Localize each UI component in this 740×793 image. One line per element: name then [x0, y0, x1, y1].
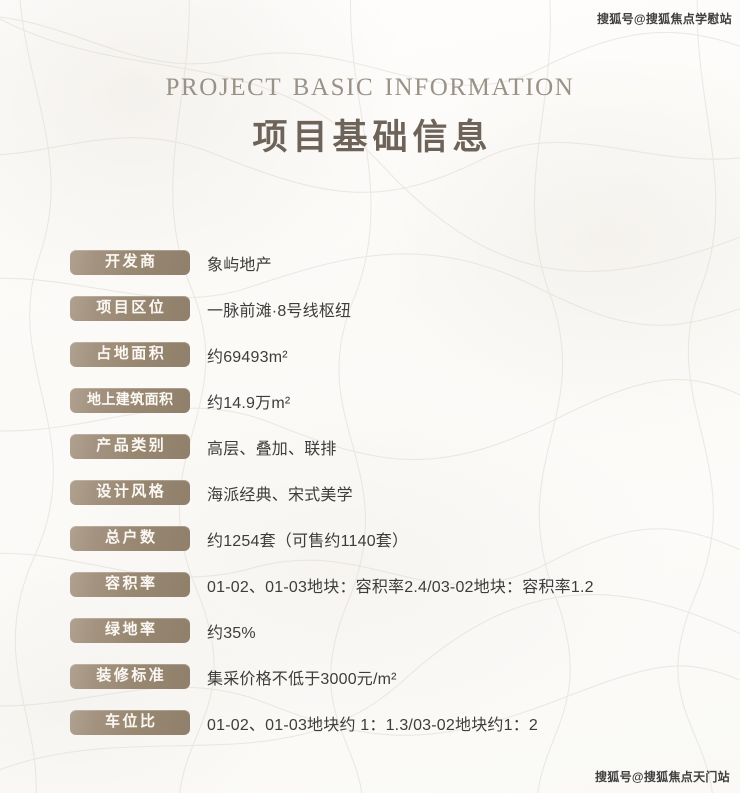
- info-label-text: 项目区位: [94, 301, 167, 316]
- info-label-text: 容积率: [102, 577, 157, 592]
- info-value-text: 集采价格不低于3000元/m²: [207, 661, 397, 692]
- info-value-text: 一脉前滩·8号线枢纽: [207, 293, 351, 324]
- info-value-text: 约69493m²: [207, 339, 288, 370]
- info-label-text: 装修标准: [94, 669, 167, 684]
- info-label-text: 总户数: [102, 531, 157, 546]
- info-label-chip: 项目区位: [70, 296, 190, 321]
- info-label-text: 产品类别: [94, 439, 167, 454]
- info-label-text: 开发商: [102, 255, 157, 270]
- info-value-text: 约14.9万m²: [207, 385, 290, 416]
- info-value-text: 约35%: [207, 615, 256, 646]
- page-header: Project Basic Information 项目基础信息: [0, 66, 740, 155]
- info-row: 开发商 象屿地产: [0, 247, 740, 293]
- info-value-text: 01-02、01-03地块约 1：1.3/03-02地块约1：2: [207, 707, 538, 738]
- info-value-text: 约1254套（可售约1140套）: [207, 523, 408, 554]
- info-label-chip: 总户数: [70, 526, 190, 551]
- info-row: 装修标准 集采价格不低于3000元/m²: [0, 661, 740, 707]
- info-label-chip: 容积率: [70, 572, 190, 597]
- info-row: 地上建筑面积 约14.9万m²: [0, 385, 740, 431]
- info-row: 占地面积 约69493m²: [0, 339, 740, 385]
- info-row: 产品类别 高层、叠加、联排: [0, 431, 740, 477]
- page-title-english: Project Basic Information: [0, 66, 740, 101]
- watermark-bottom: 搜狐号@搜狐焦点天门站: [595, 768, 730, 785]
- info-row: 设计风格 海派经典、宋式美学: [0, 477, 740, 523]
- info-value-text: 海派经典、宋式美学: [207, 477, 353, 508]
- watermark-top: 搜狐号@搜狐焦点学慰站: [597, 10, 732, 27]
- project-info-list: 开发商 象屿地产 项目区位 一脉前滩·8号线枢纽 占地面积 约69493m² 地…: [0, 247, 740, 753]
- info-label-text: 绿地率: [102, 623, 157, 638]
- info-label-chip: 开发商: [70, 250, 190, 275]
- info-value-text: 象屿地产: [207, 247, 272, 278]
- info-row: 容积率 01-02、01-03地块：容积率2.4/03-02地块：容积率1.2: [0, 569, 740, 615]
- info-label-text: 车位比: [102, 715, 157, 730]
- info-label-chip: 装修标准: [70, 664, 190, 689]
- info-label-text: 占地面积: [94, 347, 167, 362]
- info-label-chip: 绿地率: [70, 618, 190, 643]
- page-background: Project Basic Information 项目基础信息 开发商 象屿地…: [0, 0, 740, 793]
- info-label-chip: 地上建筑面积: [70, 388, 190, 413]
- info-label-chip: 车位比: [70, 710, 190, 735]
- info-label-chip: 产品类别: [70, 434, 190, 459]
- info-row: 项目区位 一脉前滩·8号线枢纽: [0, 293, 740, 339]
- info-label-text: 设计风格: [94, 485, 167, 500]
- info-row: 车位比 01-02、01-03地块约 1：1.3/03-02地块约1：2: [0, 707, 740, 753]
- info-value-text: 01-02、01-03地块：容积率2.4/03-02地块：容积率1.2: [207, 569, 594, 600]
- info-row: 总户数 约1254套（可售约1140套）: [0, 523, 740, 569]
- info-row: 绿地率 约35%: [0, 615, 740, 661]
- info-label-chip: 设计风格: [70, 480, 190, 505]
- page-title-chinese: 项目基础信息: [0, 120, 740, 155]
- info-value-text: 高层、叠加、联排: [207, 431, 337, 462]
- info-label-chip: 占地面积: [70, 342, 190, 367]
- info-label-text: 地上建筑面积: [87, 394, 174, 408]
